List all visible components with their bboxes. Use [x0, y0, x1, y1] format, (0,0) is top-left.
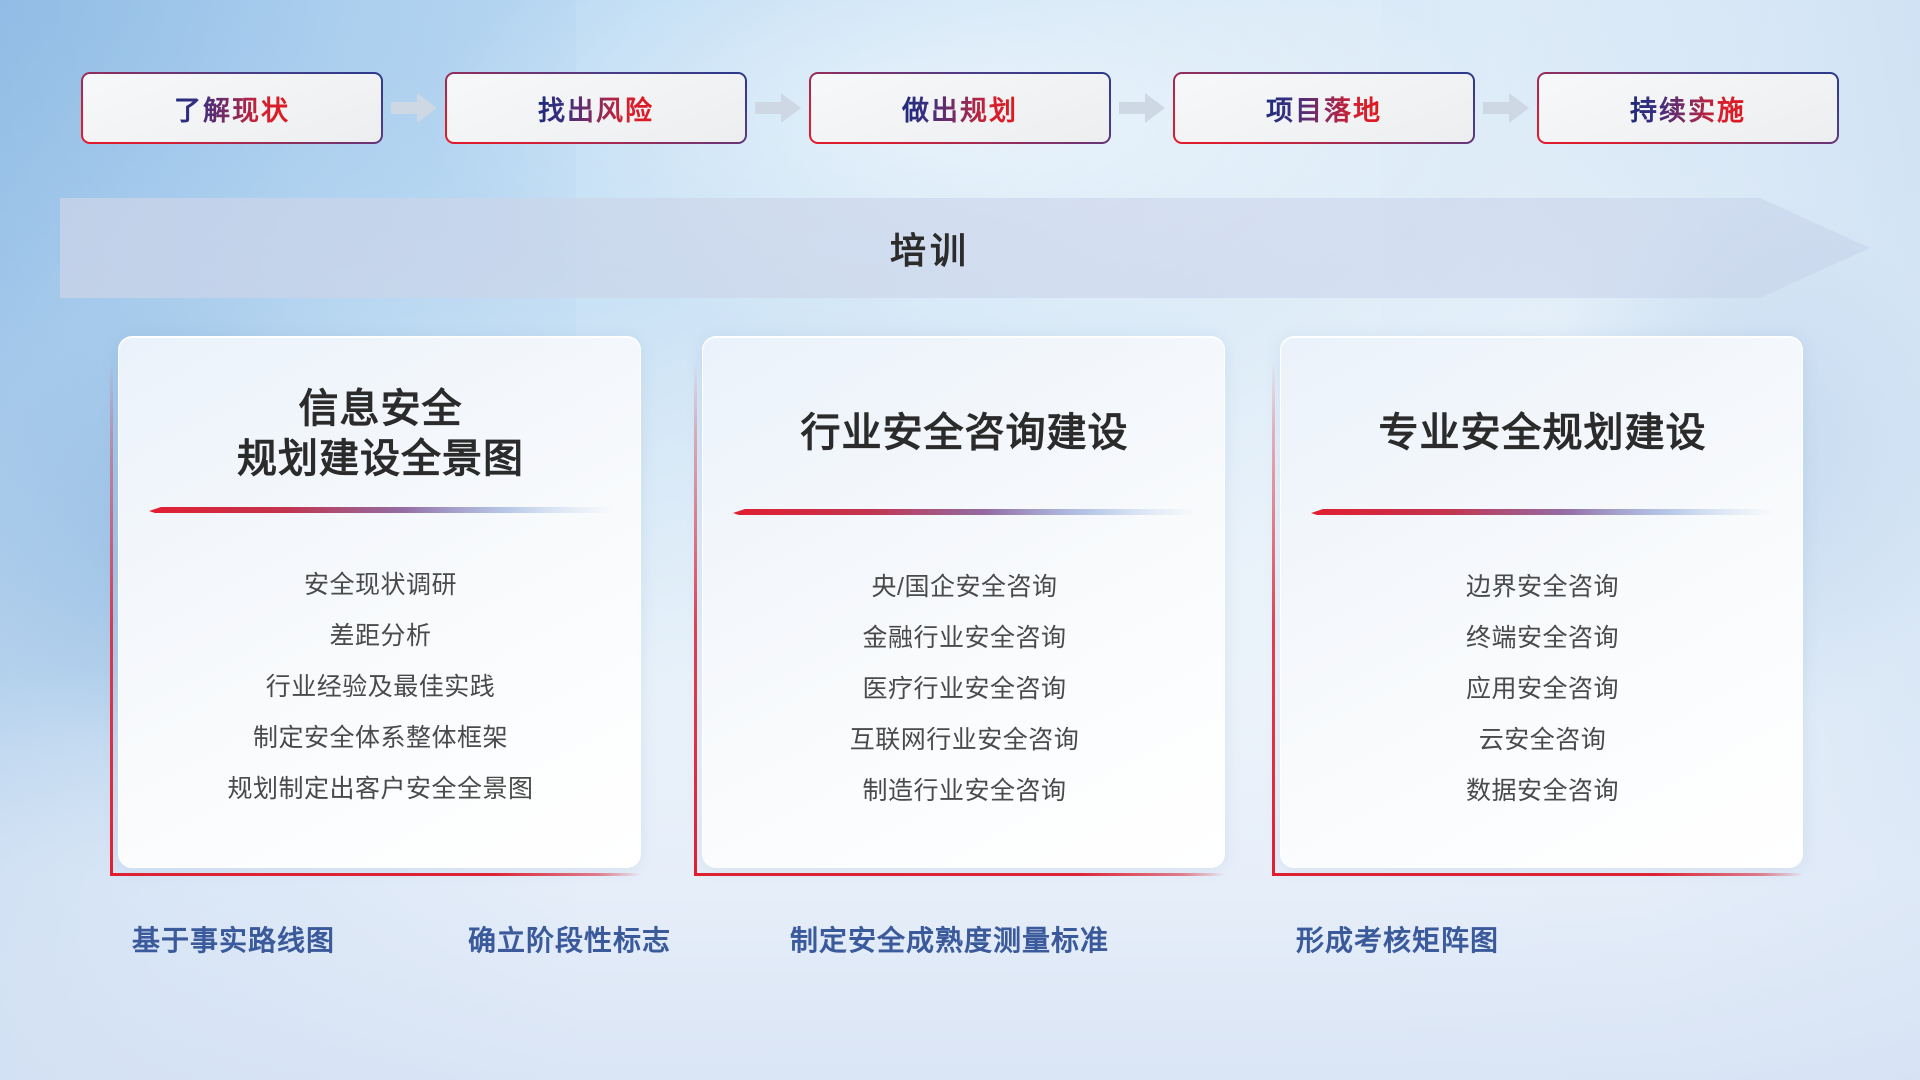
card-1-item-4: 制定安全体系整体框架 [119, 726, 641, 751]
stage-chip-2[interactable]: 找出风险 [445, 72, 747, 144]
stage-chip-5-inner: 持续实施 [1539, 74, 1837, 142]
card-2-title: 行业安全咨询建设 [703, 409, 1225, 459]
card-2-item-2: 金融行业安全咨询 [703, 626, 1225, 651]
card-2-item-3: 医疗行业安全咨询 [703, 677, 1225, 702]
card-2-title-line-1: 行业安全咨询建设 [721, 409, 1208, 459]
stage-arrow-2 [747, 72, 809, 144]
card-1-item-3: 行业经验及最佳实践 [119, 675, 641, 700]
card-3-item-2: 终端安全咨询 [1281, 626, 1803, 651]
card-2-item-5: 制造行业安全咨询 [703, 779, 1225, 804]
card-1-title-line-1: 信息安全 [137, 385, 624, 435]
outcome-label-2: 确立阶段性标志 [468, 915, 671, 963]
stage-chip-2-label: 找出风险 [538, 89, 654, 128]
stage-chip-5-label: 持续实施 [1630, 89, 1746, 128]
card-3-title-line-1: 专业安全规划建设 [1299, 409, 1786, 459]
stage-chip-4[interactable]: 项目落地 [1173, 72, 1475, 144]
card-1-divider [149, 507, 612, 516]
card-professional-security-planning[interactable]: 专业安全规划建设 边界安 [1272, 336, 1803, 876]
card-industry-security-consulting[interactable]: 行业安全咨询建设 央/国 [694, 336, 1225, 876]
card-2-body: 行业安全咨询建设 央/国 [702, 336, 1225, 868]
card-3-list: 边界安全咨询 终端安全咨询 应用安全咨询 云安全咨询 数据安全咨询 [1281, 575, 1803, 804]
card-3-body: 专业安全规划建设 边界安 [1280, 336, 1803, 868]
card-3-bottom-accent [1272, 873, 1803, 876]
card-row: 信息安全 规划建设全景图 [0, 336, 1920, 876]
outcome-label-row: 基于事实路线图 确立阶段性标志 制定安全成熟度测量标准 形成考核矩阵图 [0, 915, 1920, 963]
stage-chip-1-label: 了解现状 [174, 89, 290, 128]
stage-chip-1[interactable]: 了解现状 [81, 72, 383, 144]
card-2-bottom-accent [694, 873, 1225, 876]
outcome-label-3: 制定安全成熟度测量标准 [790, 915, 1109, 963]
stage-arrow-4 [1475, 72, 1537, 144]
card-1-title: 信息安全 规划建设全景图 [119, 385, 641, 484]
card-2-item-1: 央/国企安全咨询 [703, 575, 1225, 600]
card-1-title-line-2: 规划建设全景图 [137, 435, 624, 485]
card-2-left-accent [694, 362, 697, 876]
card-1-bottom-accent [110, 873, 641, 876]
stage-chip-3-label: 做出规划 [902, 89, 1018, 128]
stage-chip-4-inner: 项目落地 [1175, 74, 1473, 142]
outcome-label-1: 基于事实路线图 [132, 915, 335, 963]
stage-arrow-3 [1111, 72, 1173, 144]
stage-chip-3-inner: 做出规划 [811, 74, 1109, 142]
card-3-item-4: 云安全咨询 [1281, 728, 1803, 753]
card-2-divider [733, 509, 1196, 518]
card-info-security-blueprint[interactable]: 信息安全 规划建设全景图 [110, 336, 641, 876]
card-3-item-1: 边界安全咨询 [1281, 575, 1803, 600]
process-stage-row: 了解现状 找出风险 做出规划 项目落地 [0, 72, 1920, 144]
card-1-item-2: 差距分析 [119, 624, 641, 649]
stage-chip-3[interactable]: 做出规划 [809, 72, 1111, 144]
card-3-left-accent [1272, 362, 1275, 876]
stage-chip-1-inner: 了解现状 [83, 74, 381, 142]
training-banner: 培训 [60, 198, 1870, 298]
card-3-item-5: 数据安全咨询 [1281, 779, 1803, 804]
card-3-title: 专业安全规划建设 [1281, 409, 1803, 459]
card-2-list: 央/国企安全咨询 金融行业安全咨询 医疗行业安全咨询 互联网行业安全咨询 制造行… [703, 575, 1225, 804]
stage-chip-5[interactable]: 持续实施 [1537, 72, 1839, 144]
card-3-divider [1311, 509, 1774, 518]
outcome-label-4: 形成考核矩阵图 [1296, 915, 1499, 963]
stage-arrow-1 [383, 72, 445, 144]
stage-chip-4-label: 项目落地 [1266, 89, 1382, 128]
stage-chip-2-inner: 找出风险 [447, 74, 745, 142]
card-1-item-1: 安全现状调研 [119, 573, 641, 598]
banner-label: 培训 [60, 198, 1800, 298]
card-2-item-4: 互联网行业安全咨询 [703, 728, 1225, 753]
card-1-list: 安全现状调研 差距分析 行业经验及最佳实践 制定安全体系整体框架 规划制定出客户… [119, 573, 641, 802]
card-1-item-5: 规划制定出客户安全全景图 [119, 777, 641, 802]
card-3-item-3: 应用安全咨询 [1281, 677, 1803, 702]
card-1-left-accent [110, 362, 113, 876]
card-1-body: 信息安全 规划建设全景图 [118, 336, 641, 868]
